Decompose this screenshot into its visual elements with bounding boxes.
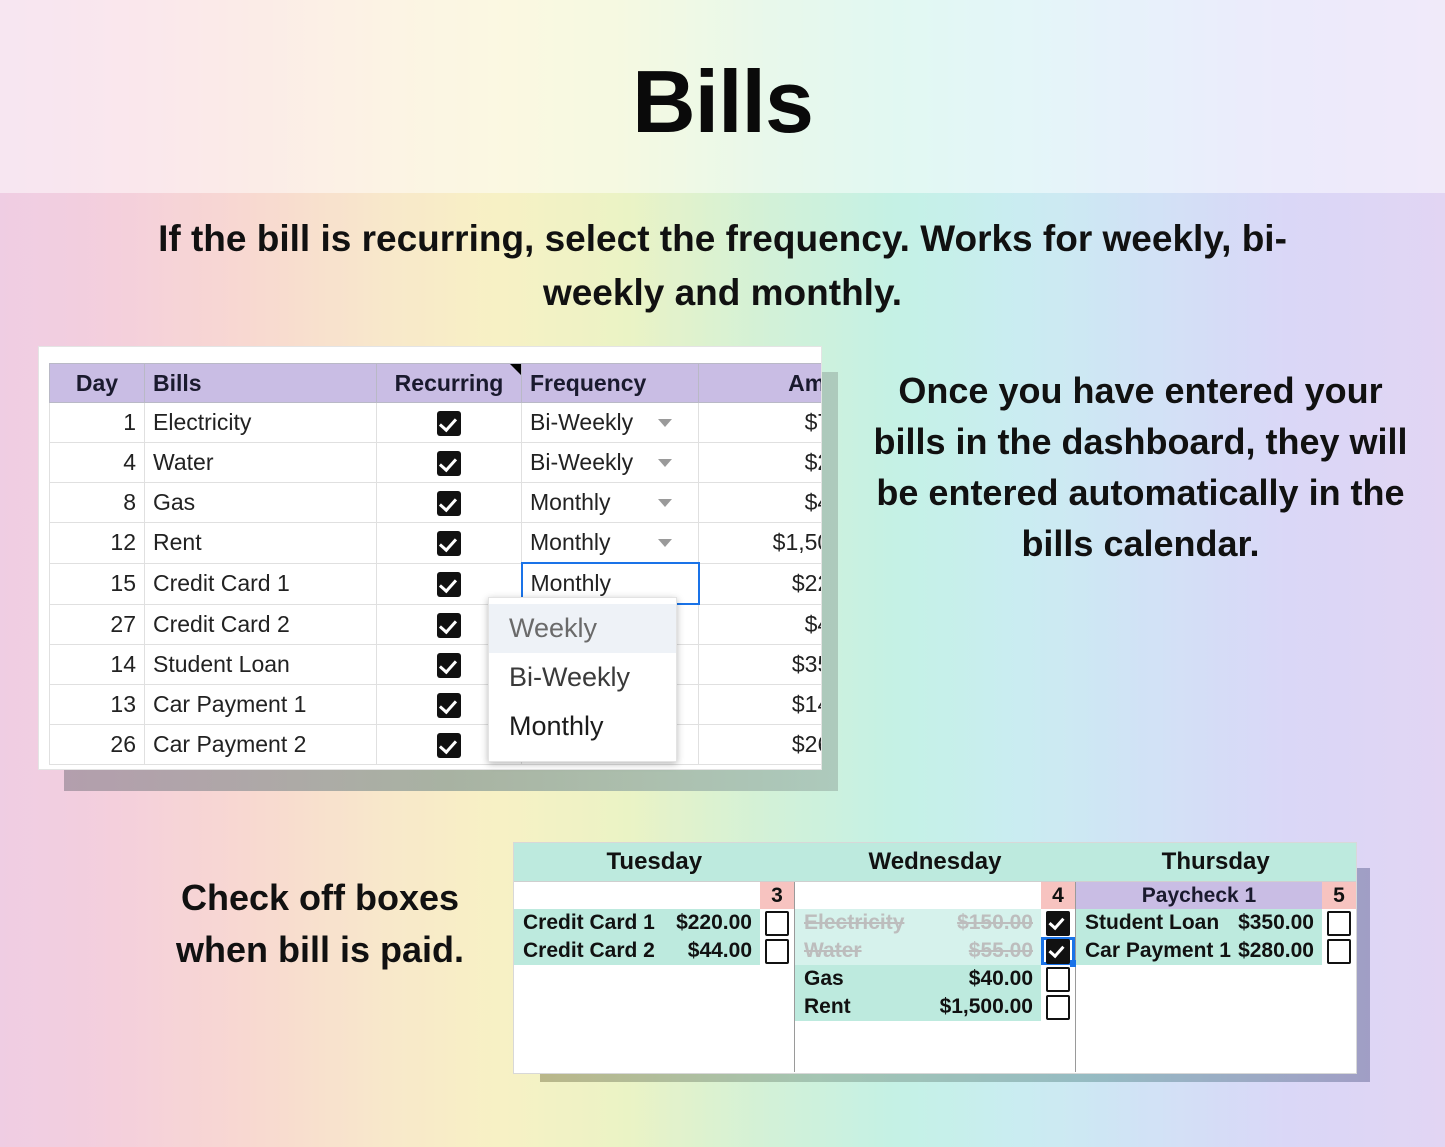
frequency-dropdown-menu[interactable]: WeeklyBi-WeeklyMonthly (488, 597, 677, 762)
cell-amount[interactable]: $40.00 (699, 483, 823, 523)
calendar-daynum-spacer (795, 882, 1041, 909)
column-header-bills[interactable]: Bills (145, 364, 377, 403)
table-row: 12RentMonthly$1,500.00 (50, 523, 823, 564)
calendar-paid-checkbox-cell[interactable] (760, 909, 794, 937)
paid-checkbox-icon[interactable] (1327, 939, 1351, 964)
calendar-bill-row: Student Loan$350.00 (1076, 909, 1356, 937)
calendar-bill-amount: $150.00 (957, 911, 1041, 935)
frequency-value: Monthly (531, 570, 612, 597)
column-header-amount-label: Amount (788, 370, 822, 396)
chevron-down-icon[interactable] (658, 419, 672, 427)
cell-bill-name[interactable]: Gas (145, 483, 377, 523)
cell-day[interactable]: 4 (50, 443, 145, 483)
table-row: 8GasMonthly$40.00 (50, 483, 823, 523)
calendar-bill-name: Car Payment 1 (1076, 939, 1238, 963)
calendar-body: 3Credit Card 1$220.00Credit Card 2$44.00… (514, 882, 1356, 1072)
bills-table-body: 1ElectricityBi-Weekly$75.004WaterBi-Week… (50, 403, 823, 765)
recurring-checkbox-icon[interactable] (437, 491, 461, 516)
paid-checkbox-icon[interactable] (765, 939, 789, 964)
calendar-bill-name: Water (795, 939, 969, 963)
calendar-bill-name: Gas (795, 967, 969, 991)
cell-day[interactable]: 27 (50, 604, 145, 645)
chevron-down-icon[interactable] (658, 539, 672, 547)
calendar-bill-amount: $55.00 (969, 939, 1041, 963)
cell-day[interactable]: 12 (50, 523, 145, 564)
paycheck-label: Paycheck 1 (1076, 882, 1322, 909)
column-header-amount[interactable]: Amount (699, 364, 823, 403)
frequency-value: Bi-Weekly (530, 409, 633, 436)
column-header-day[interactable]: Day (50, 364, 145, 403)
note-marker-icon (510, 364, 521, 375)
cell-day[interactable]: 1 (50, 403, 145, 443)
calendar-bill-name: Electricity (795, 911, 957, 935)
calendar-daynum-row: 4 (795, 882, 1075, 909)
dropdown-option-bi-weekly[interactable]: Bi-Weekly (489, 653, 676, 702)
recurring-checkbox-icon[interactable] (437, 693, 461, 718)
cell-day[interactable]: 14 (50, 645, 145, 685)
calendar-bill-row: Rent$1,500.00 (795, 993, 1075, 1021)
frequency-value: Monthly (530, 529, 611, 556)
cell-recurring[interactable] (377, 403, 522, 443)
frequency-value: Bi-Weekly (530, 449, 633, 476)
calendar-bill-amount: $40.00 (969, 967, 1041, 991)
recurring-checkbox-icon[interactable] (437, 653, 461, 678)
calendar-paid-checkbox-cell[interactable] (1322, 937, 1356, 965)
bills-calendar-panel: TuesdayWednesdayThursday 3Credit Card 1$… (513, 842, 1357, 1074)
column-header-frequency[interactable]: Frequency (522, 364, 699, 403)
calendar-bill-row: Credit Card 1$220.00 (514, 909, 794, 937)
cell-amount[interactable]: $1,500.00 (699, 523, 823, 564)
cell-recurring[interactable] (377, 483, 522, 523)
calendar-bill-name: Credit Card 2 (514, 939, 688, 963)
calendar-paid-checkbox-cell[interactable] (1041, 909, 1075, 937)
calendar-bill-name: Credit Card 1 (514, 911, 676, 935)
cell-amount[interactable]: $140.00 (699, 685, 823, 725)
recurring-checkbox-icon[interactable] (437, 613, 461, 638)
paid-checkbox-icon[interactable] (1327, 911, 1351, 936)
calendar-day-number: 4 (1041, 882, 1075, 909)
subtitle-text: If the bill is recurring, select the fre… (130, 212, 1315, 319)
column-header-recurring-label: Recurring (395, 370, 504, 396)
recurring-checkbox-icon[interactable] (437, 733, 461, 758)
bills-spreadsheet-panel: Day Bills Recurring Frequency Amount 1El… (38, 346, 822, 770)
table-row: 26Car Payment 2$260.00 (50, 725, 823, 765)
bills-table: Day Bills Recurring Frequency Amount 1El… (49, 363, 822, 765)
table-row: 13Car Payment 1$140.00 (50, 685, 823, 725)
page-title: Bills (0, 58, 1445, 146)
calendar-bill-amount: $280.00 (1238, 939, 1322, 963)
table-row: 15Credit Card 1Monthly$220.00 (50, 563, 823, 604)
cell-amount[interactable]: $25.00 (699, 443, 823, 483)
cell-recurring[interactable] (377, 523, 522, 564)
cell-bill-name[interactable]: Car Payment 2 (145, 725, 377, 765)
cell-bill-name[interactable]: Electricity (145, 403, 377, 443)
cell-bill-name[interactable]: Credit Card 1 (145, 563, 377, 604)
calendar-day-number: 5 (1322, 882, 1356, 909)
cell-amount[interactable]: $75.00 (699, 403, 823, 443)
cell-amount[interactable]: $220.00 (699, 563, 823, 604)
cell-amount[interactable]: $44.00 (699, 604, 823, 645)
recurring-checkbox-icon[interactable] (437, 572, 461, 597)
chevron-down-icon[interactable] (658, 499, 672, 507)
cell-recurring[interactable] (377, 443, 522, 483)
calendar-day-header-tuesday: Tuesday (514, 843, 795, 881)
cell-day[interactable]: 26 (50, 725, 145, 765)
calendar-paid-checkbox-cell[interactable] (1041, 937, 1075, 965)
calendar-bill-row: Water$55.00 (795, 937, 1075, 965)
bills-table-header-row: Day Bills Recurring Frequency Amount (50, 364, 823, 403)
recurring-checkbox-icon[interactable] (437, 531, 461, 556)
calendar-bill-name: Rent (795, 995, 940, 1019)
calendar-day-cell: 3Credit Card 1$220.00Credit Card 2$44.00 (514, 882, 795, 1072)
cell-bill-name[interactable]: Credit Card 2 (145, 604, 377, 645)
table-row: 27Credit Card 2$44.00 (50, 604, 823, 645)
calendar-paid-checkbox-cell[interactable] (1041, 993, 1075, 1021)
calendar-bill-row: Electricity$150.00 (795, 909, 1075, 937)
cell-bill-name[interactable]: Water (145, 443, 377, 483)
cell-frequency[interactable]: Monthly (522, 483, 699, 523)
calendar-bill-amount: $44.00 (688, 939, 760, 963)
column-header-recurring[interactable]: Recurring (377, 364, 522, 403)
calendar-bill-amount: $1,500.00 (940, 995, 1041, 1019)
cell-frequency[interactable]: Bi-Weekly (522, 443, 699, 483)
paid-checkbox-icon[interactable] (1046, 967, 1070, 992)
calendar-paid-checkbox-cell[interactable] (760, 937, 794, 965)
table-row: 1ElectricityBi-Weekly$75.00 (50, 403, 823, 443)
calendar-daynum-row: 3 (514, 882, 794, 909)
calendar-bill-amount: $220.00 (676, 911, 760, 935)
cell-day[interactable]: 8 (50, 483, 145, 523)
cell-frequency[interactable]: Bi-Weekly (522, 403, 699, 443)
dropdown-option-weekly[interactable]: Weekly (489, 604, 676, 653)
table-row: 4WaterBi-Weekly$25.00 (50, 443, 823, 483)
calendar-day-header-row: TuesdayWednesdayThursday (514, 843, 1356, 882)
dropdown-option-monthly[interactable]: Monthly (489, 702, 676, 751)
frequency-value: Monthly (530, 489, 611, 516)
paid-checkbox-icon[interactable] (1046, 911, 1070, 936)
calendar-day-cell: Paycheck 15Student Loan$350.00Car Paymen… (1076, 882, 1356, 1072)
cell-bill-name[interactable]: Rent (145, 523, 377, 564)
calendar-bill-row: Credit Card 2$44.00 (514, 937, 794, 965)
chevron-down-icon[interactable] (658, 459, 672, 467)
paid-checkbox-icon[interactable] (765, 911, 789, 936)
calendar-bill-row: Gas$40.00 (795, 965, 1075, 993)
recurring-checkbox-icon[interactable] (437, 411, 461, 436)
paid-checkbox-icon[interactable] (1046, 939, 1070, 964)
left-note-text: Check off boxes when bill is paid. (140, 872, 500, 976)
cell-amount[interactable]: $260.00 (699, 725, 823, 765)
paid-checkbox-icon[interactable] (1046, 995, 1070, 1020)
cell-amount[interactable]: $350.00 (699, 645, 823, 685)
cell-frequency[interactable]: Monthly (522, 523, 699, 564)
calendar-bill-row: Car Payment 1$280.00 (1076, 937, 1356, 965)
recurring-checkbox-icon[interactable] (437, 451, 461, 476)
calendar-paid-checkbox-cell[interactable] (1041, 965, 1075, 993)
calendar-bill-amount: $350.00 (1238, 911, 1322, 935)
calendar-day-header-thursday: Thursday (1075, 843, 1356, 881)
cell-day[interactable]: 15 (50, 563, 145, 604)
calendar-bill-name: Student Loan (1076, 911, 1238, 935)
calendar-paid-checkbox-cell[interactable] (1322, 909, 1356, 937)
calendar-daynum-row: Paycheck 15 (1076, 882, 1356, 909)
cell-bill-name[interactable]: Student Loan (145, 645, 377, 685)
calendar-daynum-spacer (514, 882, 760, 909)
calendar-day-number: 3 (760, 882, 794, 909)
table-row: 14Student Loan$350.00 (50, 645, 823, 685)
calendar-day-header-wednesday: Wednesday (795, 843, 1076, 881)
cell-day[interactable]: 13 (50, 685, 145, 725)
calendar-day-cell: 4Electricity$150.00Water$55.00Gas$40.00R… (795, 882, 1076, 1072)
right-note-text: Once you have entered your bills in the … (868, 365, 1413, 569)
cell-bill-name[interactable]: Car Payment 1 (145, 685, 377, 725)
